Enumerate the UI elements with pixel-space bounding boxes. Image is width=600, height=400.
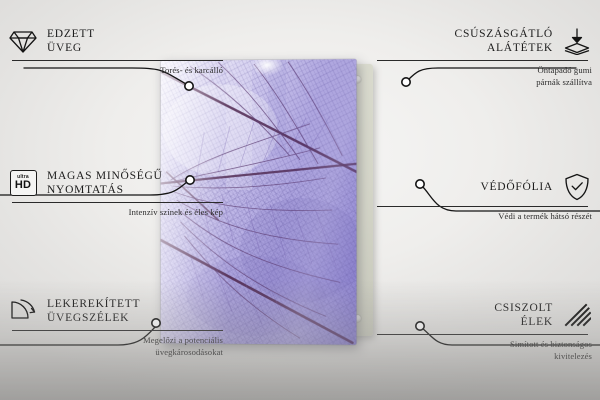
divider (377, 334, 588, 335)
feature-title: EDZETT ÜVEG (47, 27, 95, 55)
feature-high-quality-print[interactable]: ultra HD MAGAS MINŐSÉGŰ NYOMTATÁS Intenz… (8, 168, 223, 219)
divider (12, 60, 223, 61)
feature-protective-film[interactable]: VÉDŐFÓLIA Védi a termék hátsó részét (377, 172, 592, 223)
feature-description: Védi a termék hátsó részét (377, 211, 592, 223)
feature-title: CSISZOLT ÉLEK (494, 301, 553, 329)
diagonal-hatch-icon (562, 300, 592, 330)
feature-description: Öntapadó gumi párnák szállítva (377, 65, 592, 88)
badge-hd-label: HD (15, 180, 31, 191)
feature-description: Torés- és karcálló (8, 65, 223, 77)
shield-check-icon (562, 172, 592, 202)
feature-description: Intenzív színek és éles kép (8, 207, 223, 219)
feature-polished-edges[interactable]: CSISZOLT ÉLEK Simított és biztonságos ki… (377, 300, 592, 362)
feature-title: VÉDŐFÓLIA (480, 180, 553, 194)
divider (12, 330, 223, 331)
callout-dot (185, 82, 193, 90)
feature-title: MAGAS MINŐSÉGŰ NYOMTATÁS (47, 169, 163, 197)
diamond-icon (8, 26, 38, 56)
feature-description: Simított és biztonságos kivitelezés (377, 339, 592, 362)
ultra-hd-badge-icon: ultra HD (8, 168, 38, 198)
feature-description: Megelőzi a potenciális üvegkárosodásokat (8, 335, 223, 358)
feature-tempered-glass[interactable]: EDZETT ÜVEG Torés- és karcálló (8, 26, 223, 77)
divider (377, 206, 588, 207)
feature-title: LEKEREKÍTETT ÜVEGSZÉLEK (47, 297, 140, 325)
divider (12, 202, 223, 203)
infographic-canvas: EDZETT ÜVEG Torés- és karcálló ultra HD … (0, 0, 600, 400)
feature-title: CSÚSZÁSGÁTLÓ ALÁTÉTEK (455, 27, 553, 55)
rounded-corner-icon (8, 296, 38, 326)
divider (377, 60, 588, 61)
arrow-down-pad-icon (562, 26, 592, 56)
feature-rounded-glass-edges[interactable]: LEKEREKÍTETT ÜVEGSZÉLEK Megelőzi a poten… (8, 296, 223, 358)
feature-anti-slip-pads[interactable]: CSÚSZÁSGÁTLÓ ALÁTÉTEK Öntapadó gumi párn… (377, 26, 592, 88)
